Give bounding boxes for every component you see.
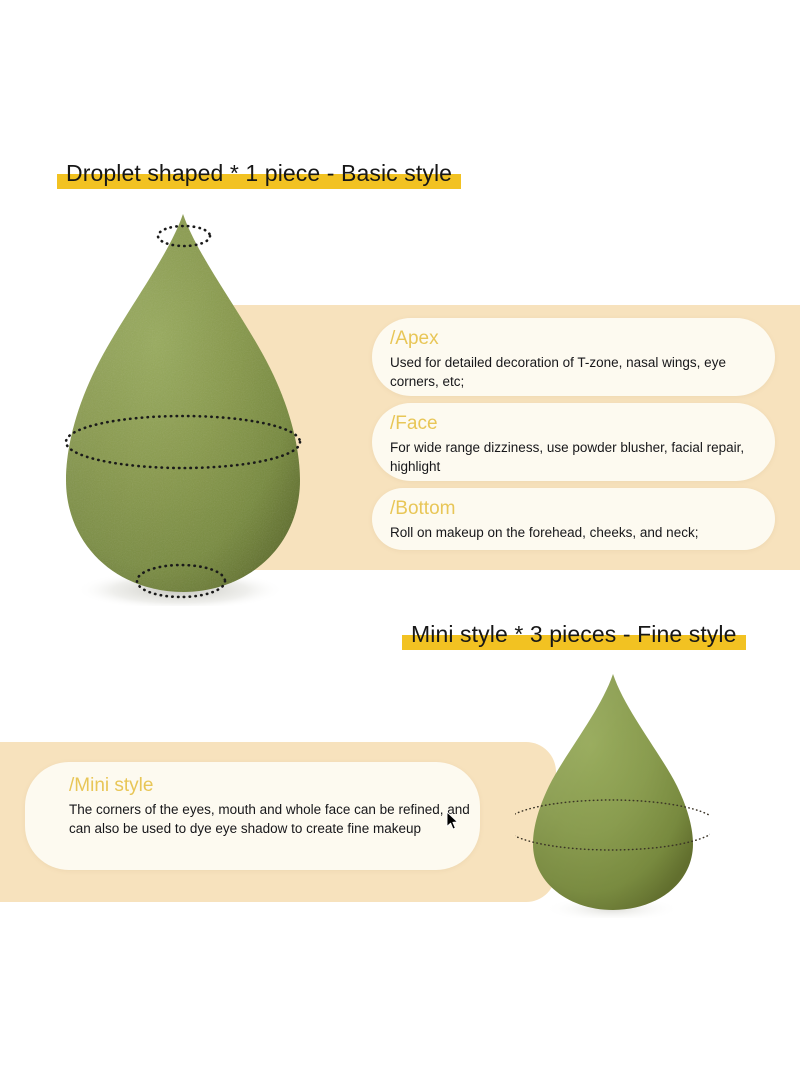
info-card-apex-title: /Apex — [390, 329, 775, 350]
info-card-face: /Face For wide range dizziness, use powd… — [372, 403, 775, 481]
info-card-face-body: For wide range dizziness, use powder blu… — [390, 438, 775, 476]
mini-sponge-image — [515, 668, 710, 918]
basic-style-heading: Droplet shaped * 1 piece - Basic style — [66, 162, 452, 185]
info-card-face-title: /Face — [390, 414, 775, 435]
info-card-bottom-body: Roll on makeup on the forehead, cheeks, … — [390, 523, 775, 542]
basic-style-heading-text: Droplet shaped * 1 piece - Basic style — [66, 160, 452, 186]
mini-style-heading-text: Mini style * 3 pieces - Fine style — [411, 621, 737, 647]
mini-style-heading: Mini style * 3 pieces - Fine style — [411, 623, 737, 646]
info-card-mini-style-title: /Mini style — [69, 776, 480, 797]
info-card-apex: /Apex Used for detailed decoration of T-… — [372, 318, 775, 396]
droplet-sponge-image — [48, 206, 318, 606]
info-card-mini-style-body: The corners of the eyes, mouth and whole… — [69, 800, 480, 838]
info-card-bottom: /Bottom Roll on makeup on the forehead, … — [372, 488, 775, 550]
info-card-bottom-title: /Bottom — [390, 499, 775, 520]
info-card-apex-body: Used for detailed decoration of T-zone, … — [390, 353, 775, 391]
info-card-mini-style: /Mini style The corners of the eyes, mou… — [25, 762, 480, 870]
